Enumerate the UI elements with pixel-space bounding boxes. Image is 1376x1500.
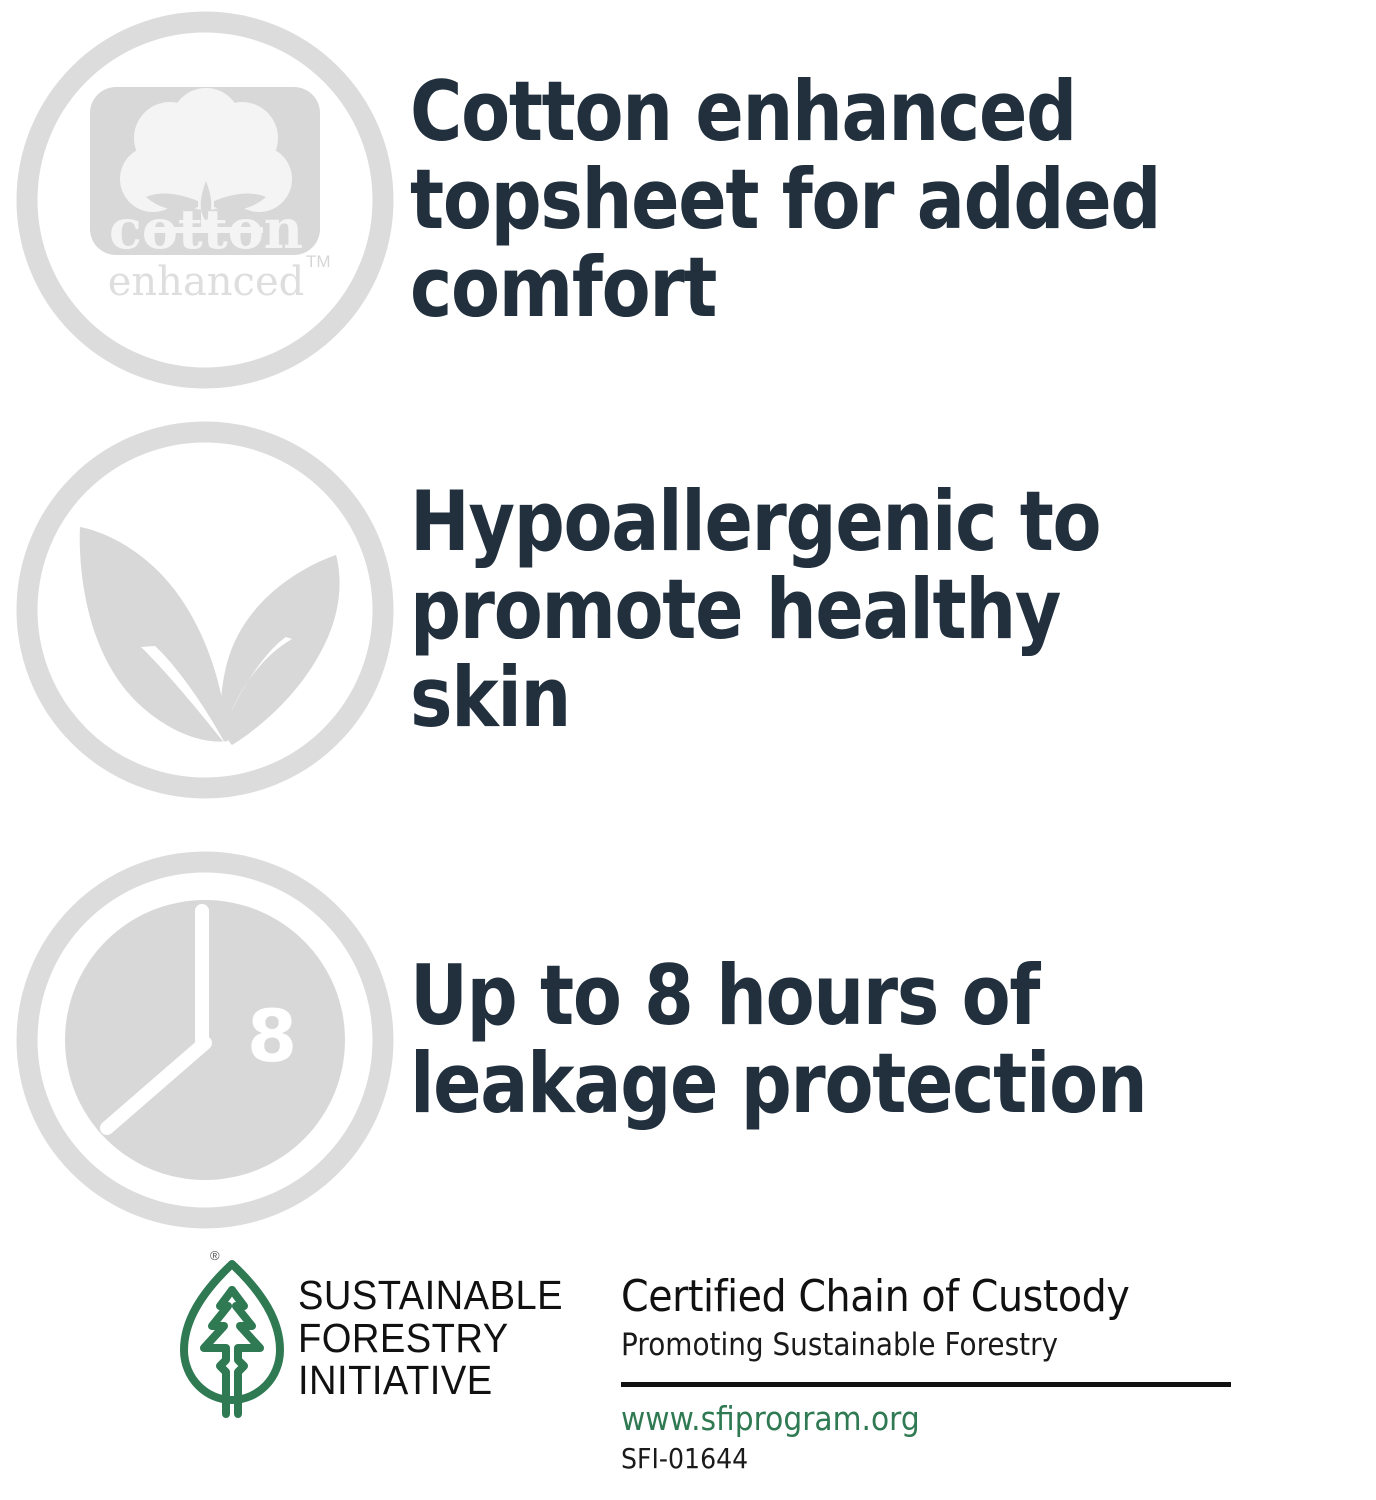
certification-title: Certified Chain of Custody bbox=[621, 1274, 1188, 1321]
text-cell-hypoallergenic: Hypoallergenic to promote healthy skin bbox=[410, 478, 1376, 742]
icon-cell-clock: 8 bbox=[0, 840, 410, 1240]
feature-row-leakage: 8 Up to 8 hours of leakage protection bbox=[0, 840, 1376, 1240]
sfi-certificate-code: SFI-01644 bbox=[621, 1442, 1188, 1475]
feature-heading-hypoallergenic: Hypoallergenic to promote healthy skin bbox=[410, 478, 1230, 742]
sfi-certification-footer: ® SUSTAINABLE FORESTRY INITIATIVE Certif… bbox=[0, 1248, 1376, 1500]
clock-numeral-text: 8 bbox=[247, 994, 297, 1078]
cotton-enhanced-logo-icon: cotton TM enhanced bbox=[10, 5, 400, 395]
sfi-mark-wrap: ® bbox=[176, 1254, 288, 1422]
feature-row-cotton: cotton TM enhanced Cotton enhanced topsh… bbox=[0, 0, 1376, 400]
sfi-wordmark-text: SUSTAINABLE FORESTRY INITIATIVE bbox=[298, 1274, 563, 1402]
feature-row-hypoallergenic: Hypoallergenic to promote healthy skin bbox=[0, 410, 1376, 810]
feature-heading-leakage: Up to 8 hours of leakage protection bbox=[410, 952, 1230, 1128]
sfi-certification-block: Certified Chain of Custody Promoting Sus… bbox=[621, 1274, 1251, 1475]
icon-cell-cotton: cotton TM enhanced bbox=[0, 0, 410, 400]
sfi-leaf-tree-icon bbox=[176, 1254, 288, 1422]
certification-divider bbox=[621, 1382, 1231, 1387]
sfi-program-url[interactable]: www.sfiprogram.org bbox=[621, 1399, 1188, 1438]
certification-subtitle: Promoting Sustainable Forestry bbox=[621, 1327, 1188, 1364]
clock-eight-hours-icon: 8 bbox=[10, 845, 400, 1235]
icon-cell-leaves bbox=[0, 410, 410, 810]
text-cell-cotton: Cotton enhanced topsheet for added comfo… bbox=[410, 68, 1376, 332]
feature-heading-cotton: Cotton enhanced topsheet for added comfo… bbox=[410, 68, 1230, 332]
cotton-trademark-text: TM bbox=[306, 252, 331, 271]
sfi-logo-block: ® SUSTAINABLE FORESTRY INITIATIVE bbox=[176, 1254, 583, 1422]
cotton-subtitle-text: enhanced bbox=[108, 259, 304, 305]
text-cell-leakage: Up to 8 hours of leakage protection bbox=[410, 952, 1376, 1128]
two-leaves-icon bbox=[10, 415, 400, 805]
registered-trademark-symbol: ® bbox=[210, 1248, 220, 1263]
